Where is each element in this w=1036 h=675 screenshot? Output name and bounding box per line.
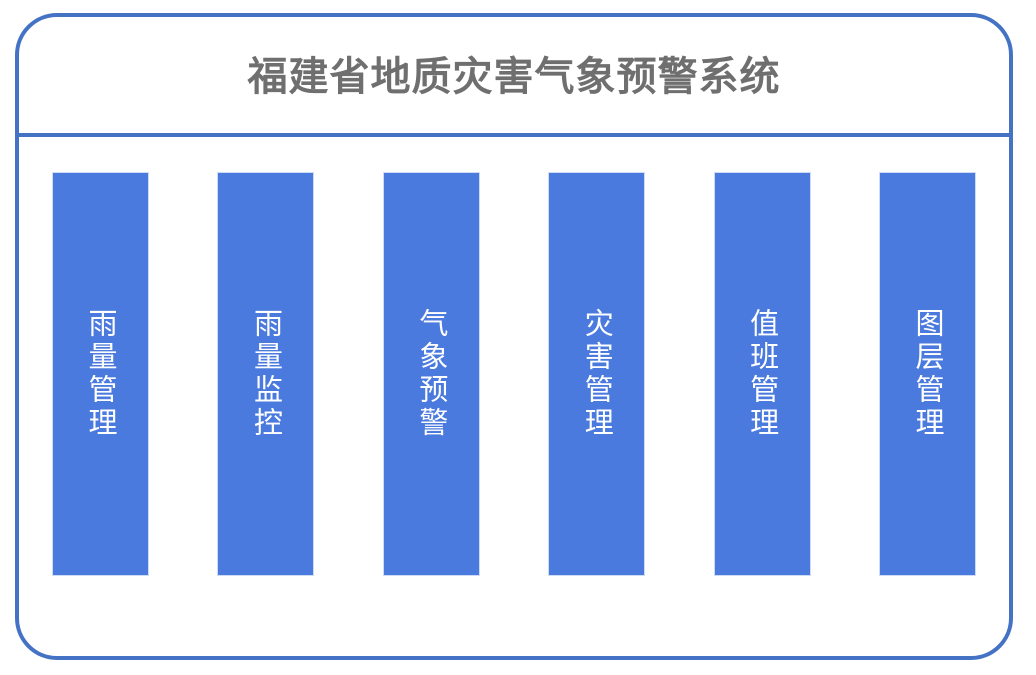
main-panel: 福建省地质灾害气象预警系统 雨量管理 雨量监控 气象预警 灾害管理 值班管理 图… [15, 13, 1013, 660]
module-bar-meteorological-warning[interactable]: 气象预警 [384, 173, 479, 575]
page-title: 福建省地质灾害气象预警系统 [248, 57, 781, 97]
module-bar-group: 雨量管理 雨量监控 气象预警 灾害管理 值班管理 图层管理 [53, 173, 975, 575]
module-bar-duty-management[interactable]: 值班管理 [715, 173, 810, 575]
module-bar-rainfall-monitoring[interactable]: 雨量监控 [218, 173, 313, 575]
module-label: 雨量监控 [247, 308, 284, 440]
app-canvas: 福建省地质灾害气象预警系统 雨量管理 雨量监控 气象预警 灾害管理 值班管理 图… [0, 0, 1036, 675]
panel-header: 福建省地质灾害气象预警系统 [19, 17, 1009, 137]
module-label: 气象预警 [413, 308, 450, 440]
module-bar-rainfall-management[interactable]: 雨量管理 [53, 173, 148, 575]
module-label: 值班管理 [744, 308, 781, 440]
module-bar-disaster-management[interactable]: 灾害管理 [549, 173, 644, 575]
module-label: 灾害管理 [578, 308, 615, 440]
header-divider [19, 133, 1009, 137]
module-bar-layer-management[interactable]: 图层管理 [880, 173, 975, 575]
module-label: 图层管理 [909, 308, 946, 440]
module-label: 雨量管理 [82, 308, 119, 440]
